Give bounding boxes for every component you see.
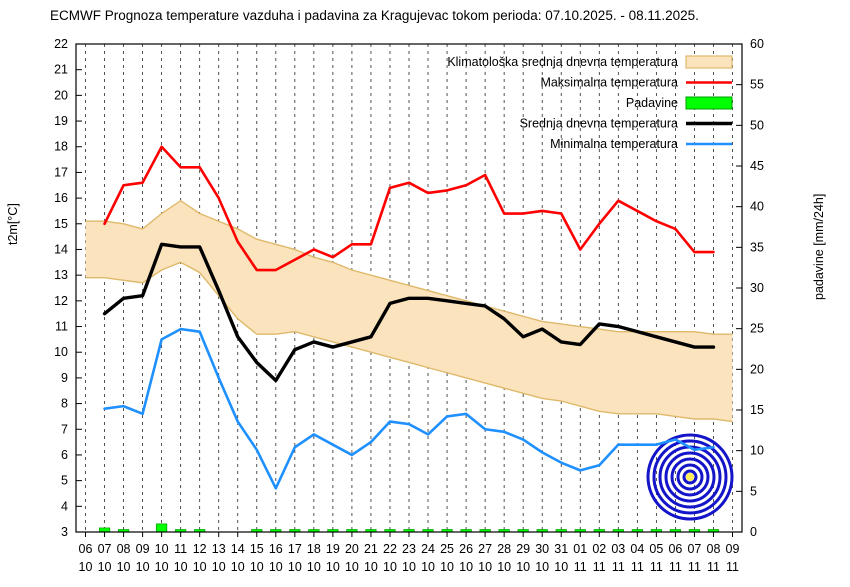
y-tick-label-left: 7 xyxy=(61,422,68,436)
y-tick-label-left: 19 xyxy=(54,114,68,128)
x-tick-label-month: 10 xyxy=(554,560,568,574)
y-tick-label-left: 4 xyxy=(61,499,68,513)
x-tick-label-month: 10 xyxy=(383,560,397,574)
x-tick-label-month: 11 xyxy=(707,560,720,574)
x-tick-label-day: 17 xyxy=(288,542,302,556)
y-tick-label-right: 55 xyxy=(750,78,764,92)
x-tick-label-day: 02 xyxy=(592,542,606,556)
x-tick-label-day: 23 xyxy=(402,542,416,556)
legend-label: Srednja dnevna temperatura xyxy=(520,117,678,131)
x-tick-label-day: 07 xyxy=(98,542,112,556)
x-tick-label-day: 08 xyxy=(707,542,721,556)
y-tick-label-left: 12 xyxy=(54,294,68,308)
legend-label: Klimatološka srednja dnevna temperatura xyxy=(447,55,678,69)
y-tick-label-right: 35 xyxy=(750,240,764,254)
x-tick-label-day: 28 xyxy=(497,542,511,556)
y-tick-label-left: 22 xyxy=(54,37,68,51)
x-tick-label-month: 10 xyxy=(516,560,530,574)
y-tick-label-left: 17 xyxy=(54,165,68,179)
x-tick-label-month: 10 xyxy=(231,560,245,574)
x-tick-label-day: 10 xyxy=(155,542,169,556)
x-tick-label-day: 27 xyxy=(478,542,492,556)
y-tick-label-right: 15 xyxy=(750,403,764,417)
x-tick-label-month: 11 xyxy=(631,560,644,574)
y-tick-label-left: 16 xyxy=(54,191,68,205)
x-tick-label-month: 10 xyxy=(440,560,454,574)
x-tick-label-day: 31 xyxy=(554,542,568,556)
x-tick-label-day: 30 xyxy=(535,542,549,556)
y-tick-label-right: 45 xyxy=(750,159,764,173)
chart-page: ECMWF Prognoza temperature vazduha i pad… xyxy=(0,0,850,587)
y-tick-label-left: 9 xyxy=(61,371,68,385)
x-tick-label-day: 08 xyxy=(117,542,131,556)
x-tick-label-day: 11 xyxy=(174,542,187,556)
x-tick-label-day: 19 xyxy=(326,542,340,556)
x-tick-label-month: 11 xyxy=(669,560,682,574)
y-tick-label-right: 25 xyxy=(750,322,764,336)
y-tick-label-left: 21 xyxy=(54,63,68,77)
y-tick-label-left: 11 xyxy=(55,320,68,334)
x-tick-label-month: 11 xyxy=(688,560,701,574)
x-tick-label-day: 12 xyxy=(193,542,207,556)
y-tick-label-right: 50 xyxy=(750,118,764,132)
legend-label: Padavine xyxy=(626,96,678,110)
x-tick-label-month: 10 xyxy=(250,560,264,574)
x-tick-label-day: 07 xyxy=(687,542,701,556)
y-tick-label-right: 30 xyxy=(750,281,764,295)
x-tick-label-month: 11 xyxy=(650,560,663,574)
x-tick-label-month: 11 xyxy=(726,560,739,574)
y-tick-label-left: 8 xyxy=(61,397,68,411)
x-tick-label-month: 10 xyxy=(98,560,112,574)
weather-forecast-chart: 3456789101112131415161718192021220510152… xyxy=(0,0,850,587)
x-tick-label-day: 29 xyxy=(516,542,530,556)
x-tick-label-day: 01 xyxy=(573,542,587,556)
x-tick-label-month: 11 xyxy=(593,560,606,574)
y-tick-label-right: 0 xyxy=(750,525,757,539)
x-tick-label-month: 10 xyxy=(421,560,435,574)
x-tick-label-month: 10 xyxy=(345,560,359,574)
y-tick-label-right: 40 xyxy=(750,200,764,214)
x-tick-label-month: 10 xyxy=(326,560,340,574)
x-tick-label-month: 10 xyxy=(288,560,302,574)
y-tick-label-left: 5 xyxy=(61,474,68,488)
y-tick-label-left: 10 xyxy=(54,345,68,359)
y-tick-label-left: 14 xyxy=(54,242,68,256)
y-tick-label-left: 15 xyxy=(54,217,68,231)
x-tick-label-day: 21 xyxy=(364,542,378,556)
x-tick-label-month: 11 xyxy=(574,560,587,574)
x-tick-label-month: 10 xyxy=(193,560,207,574)
y-tick-label-right: 60 xyxy=(750,37,764,51)
y-tick-label-right: 10 xyxy=(750,444,764,458)
y-tick-label-left: 3 xyxy=(61,525,68,539)
x-tick-label-month: 10 xyxy=(174,560,188,574)
y-axis-label-right: padavine [mm/24h] xyxy=(812,194,826,300)
x-tick-label-month: 10 xyxy=(535,560,549,574)
x-tick-label-month: 10 xyxy=(307,560,321,574)
x-tick-label-day: 15 xyxy=(250,542,264,556)
page-title: ECMWF Prognoza temperature vazduha i pad… xyxy=(50,8,699,23)
y-tick-label-left: 6 xyxy=(61,448,68,462)
x-tick-label-month: 10 xyxy=(459,560,473,574)
x-tick-label-day: 16 xyxy=(269,542,283,556)
x-tick-label-day: 22 xyxy=(383,542,397,556)
y-tick-label-left: 13 xyxy=(54,268,68,282)
x-tick-label-day: 24 xyxy=(421,542,435,556)
x-tick-label-day: 13 xyxy=(212,542,226,556)
x-tick-label-day: 03 xyxy=(611,542,625,556)
x-tick-label-day: 06 xyxy=(79,542,93,556)
x-tick-label-day: 18 xyxy=(307,542,321,556)
x-tick-label-day: 04 xyxy=(630,542,644,556)
legend-label: Minimalna temperatura xyxy=(550,137,678,151)
x-tick-label-day: 09 xyxy=(136,542,150,556)
x-tick-label-month: 10 xyxy=(364,560,378,574)
x-tick-label-month: 10 xyxy=(212,560,226,574)
x-tick-label-month: 10 xyxy=(478,560,492,574)
y-tick-label-left: 18 xyxy=(54,140,68,154)
x-tick-label-month: 10 xyxy=(79,560,93,574)
x-tick-label-month: 10 xyxy=(117,560,131,574)
x-tick-label-month: 10 xyxy=(155,560,169,574)
x-tick-label-day: 26 xyxy=(459,542,473,556)
y-tick-label-left: 20 xyxy=(54,88,68,102)
y-tick-label-right: 5 xyxy=(750,484,757,498)
x-tick-label-day: 25 xyxy=(440,542,454,556)
x-tick-label-day: 05 xyxy=(649,542,663,556)
x-tick-label-month: 10 xyxy=(497,560,511,574)
x-tick-label-day: 09 xyxy=(726,542,740,556)
x-tick-label-month: 10 xyxy=(269,560,283,574)
x-tick-label-day: 14 xyxy=(231,542,245,556)
x-tick-label-day: 20 xyxy=(345,542,359,556)
x-tick-label-day: 06 xyxy=(668,542,682,556)
x-tick-label-month: 10 xyxy=(402,560,416,574)
x-tick-label-month: 11 xyxy=(612,560,625,574)
x-tick-label-month: 10 xyxy=(136,560,150,574)
y-tick-label-right: 20 xyxy=(750,362,764,376)
y-axis-label-left: t2m[°C] xyxy=(6,203,20,245)
legend-label: Maksimalna temperatura xyxy=(540,76,678,90)
